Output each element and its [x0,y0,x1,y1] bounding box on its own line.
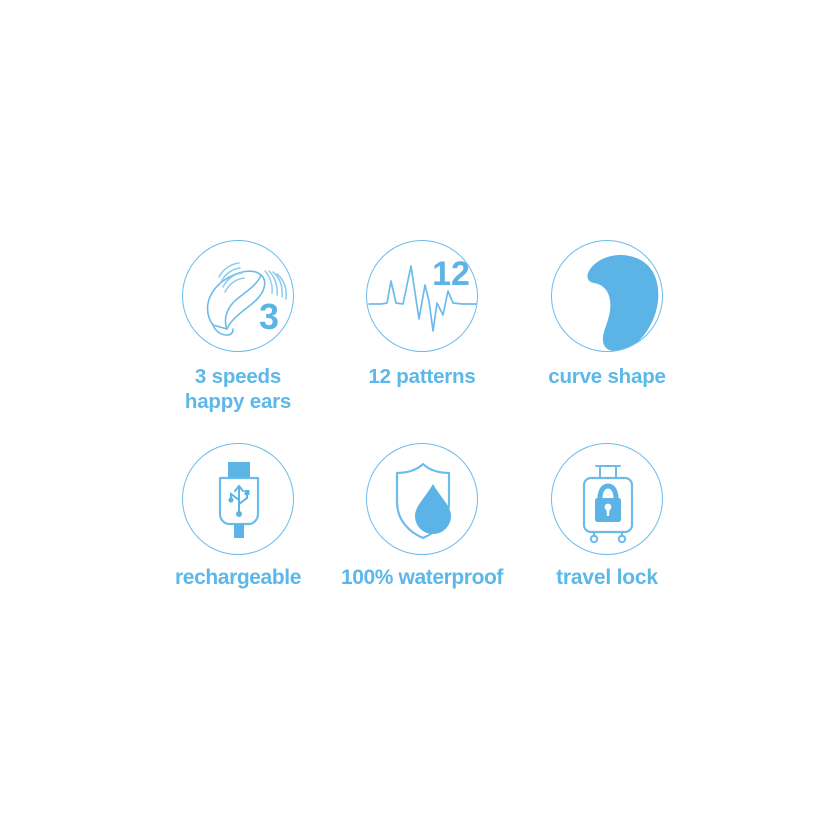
droplet-fill [415,484,451,534]
feature-item-travel-lock[interactable]: travel lock [514,443,700,591]
curve-blob-icon [551,240,663,352]
badge-number-12: 12 [432,255,470,293]
badge-number-3: 3 [259,296,279,337]
feature-item-rechargeable[interactable]: rechargeable [145,443,331,591]
feature-label-line1: 3 speeds [195,365,281,388]
feature-label-waterproof: 100% waterproof [341,565,503,591]
feature-item-curve[interactable]: curve shape [514,240,700,389]
feature-label-line2: happy ears [185,389,291,414]
feature-label-rechargeable: rechargeable [175,565,301,591]
waveform-icon: 12 [366,240,478,352]
feature-item-speeds[interactable]: 3 3 speeds happy ears [145,240,331,414]
feature-item-waterproof[interactable]: 100% waterproof [329,443,515,591]
feature-label-curve: curve shape [548,364,665,389]
usb-cable-stub [234,524,244,538]
feature-label-patterns: 12 patterns [368,364,475,389]
feature-label-line1: curve shape [548,365,665,388]
padlock-shackle [600,486,616,498]
feature-label-line1: 100% waterproof [341,566,503,589]
feature-item-patterns[interactable]: 12 12 patterns [329,240,515,389]
feature-label-line1: travel lock [556,566,658,589]
suitcase-lock-icon [551,443,663,555]
usb-plug-icon [182,443,294,555]
usb-tab [228,462,250,478]
vibration-waves-icon: 3 [182,240,294,352]
feature-label-line1: 12 patterns [368,365,475,388]
shield-droplet-icon [366,443,478,555]
feature-label-travel-lock: travel lock [556,565,658,591]
feature-label-line1: rechargeable [175,566,301,589]
feature-label-speeds: 3 speeds happy ears [185,364,291,414]
feature-icon-grid: 3 3 speeds happy ears 12 12 patterns cur… [0,0,840,840]
curve-shape-fill [587,255,658,351]
